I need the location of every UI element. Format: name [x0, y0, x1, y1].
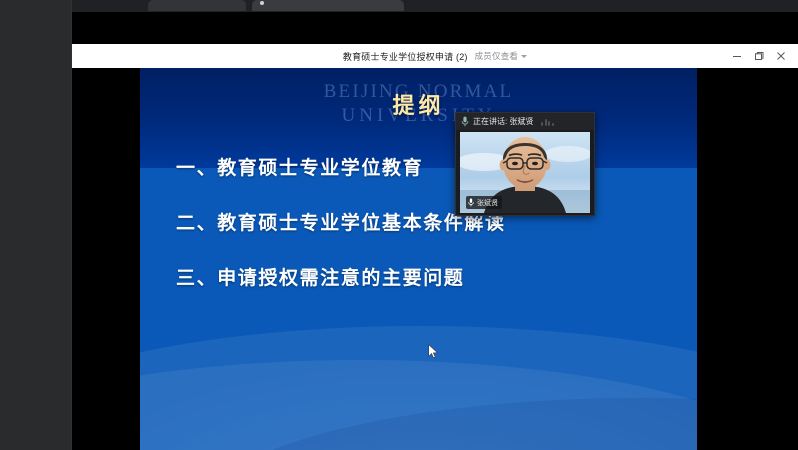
slide-bullet-list: 一、教育硕士专业学位教育 二、教育硕士专业学位基本条件解读 三、申请授权需注意的…	[176, 153, 676, 318]
screen-root: 教育硕士专业学位授权申请 (2) 成员仅查看	[0, 0, 798, 450]
shared-slide[interactable]: BEIJING NORMAL UNIVERSITY	[140, 68, 697, 450]
chevron-down-icon	[521, 55, 527, 58]
permission-label: 成员仅查看	[475, 50, 519, 62]
minimize-icon	[732, 51, 742, 61]
meeting-app-window: 教育硕士专业学位授权申请 (2) 成员仅查看	[72, 12, 798, 450]
meeting-title: 教育硕士专业学位授权申请 (2)	[343, 50, 468, 63]
window-controls	[726, 44, 792, 68]
video-tile-header: 正在讲话: 张斌贤	[456, 113, 594, 130]
audio-level-bars-icon	[541, 118, 554, 126]
slide-bullet-3: 三、申请授权需注意的主要问题	[176, 263, 676, 290]
mouse-cursor-icon	[428, 344, 439, 359]
browser-tabstrip	[72, 0, 798, 12]
browser-tab-1[interactable]	[148, 0, 246, 11]
titlebar-content: 教育硕士专业学位授权申请 (2) 成员仅查看	[72, 44, 798, 68]
os-sidebar-rail	[0, 0, 72, 450]
browser-tab-2[interactable]	[252, 0, 404, 11]
restore-button[interactable]	[748, 44, 770, 68]
microphone-icon	[461, 116, 469, 127]
slide-bullet-1: 一、教育硕士专业学位教育	[176, 153, 676, 180]
speaker-video-tile[interactable]: 正在讲话: 张斌贤	[455, 112, 595, 216]
participant-name-chip: 张斌贤	[466, 196, 502, 209]
slide-title: 提纲	[140, 88, 697, 120]
minimize-button[interactable]	[726, 44, 748, 68]
microphone-icon-small	[468, 198, 474, 207]
tab-favicon-icon	[260, 1, 264, 5]
close-button[interactable]	[770, 44, 792, 68]
slide-bullet-2: 二、教育硕士专业学位基本条件解读	[176, 208, 676, 235]
close-icon	[776, 51, 786, 61]
participant-name: 张斌贤	[477, 198, 498, 208]
presentation-stage: BEIJING NORMAL UNIVERSITY	[72, 68, 798, 450]
permission-dropdown[interactable]: 成员仅查看	[475, 50, 528, 62]
restore-icon	[754, 51, 764, 61]
speaking-status-label: 正在讲话: 张斌贤	[473, 116, 533, 127]
window-titlebar: 教育硕士专业学位授权申请 (2) 成员仅查看	[72, 44, 798, 68]
video-feed: 张斌贤	[460, 132, 590, 213]
